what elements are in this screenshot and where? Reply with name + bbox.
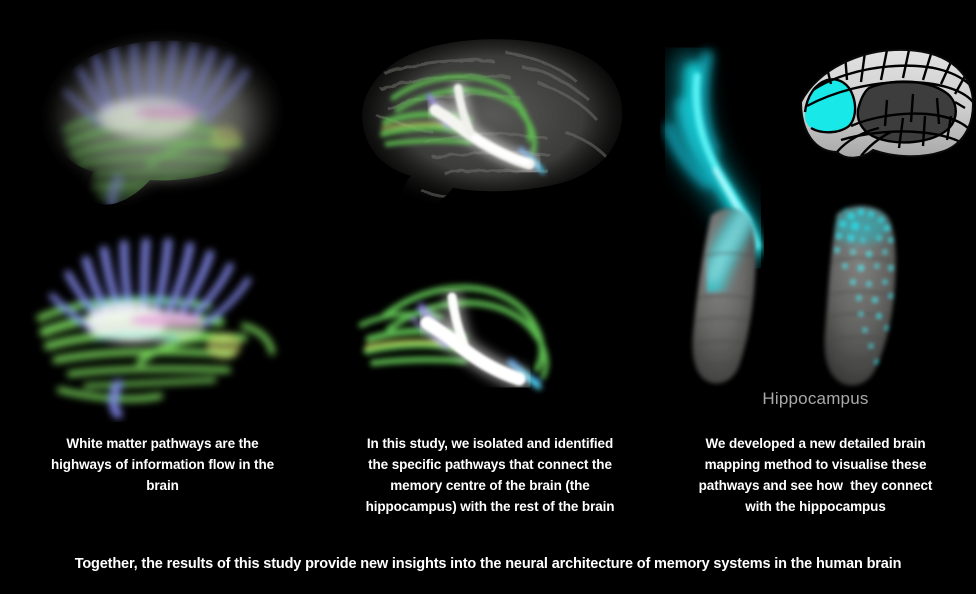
figure-root: White matter pathways are the highways o… [0,0,976,594]
hippocampus-surface-pathway [691,206,756,384]
caption-line: highways of information flow in the [0,454,325,475]
caption-line: pathways and see how they connect [655,475,976,496]
caption-column-3: We developed a new detailed brain mappin… [655,433,976,517]
caption-line: with the hippocampus [655,496,976,517]
hippocampus-surface-endpoints [823,204,896,386]
callosum-streak [134,107,202,120]
column-white-matter: White matter pathways are the highways o… [0,0,325,530]
column-hippocampal-mapping: We developed a new detailed brain mappin… [655,0,976,530]
footer-caption: Together, the results of this study prov… [0,556,976,572]
panel-isolated-pathway-bare [325,245,655,420]
callosum-streak-bare [130,313,202,327]
panel-isolated-pathway-with-surface [325,22,655,222]
caption-line: memory centre of the brain (the [325,475,655,496]
column-isolated-pathways: In this study, we isolated and identifie… [325,0,655,530]
panel-hippocampal-mapping-render [655,0,976,420]
caption-line: the specific pathways that connect the [325,454,655,475]
caption-column-2: In this study, we isolated and identifie… [325,433,655,517]
caption-line: hippocampus) with the rest of the brain [325,496,655,517]
caption-line: White matter pathways are the [0,433,325,454]
cortical-parcellation-inset [801,50,973,158]
hippocampus-label: Hippocampus [655,389,976,409]
caption-line: mapping method to visualise these [655,454,976,475]
caption-line: brain [0,475,325,496]
panel-whole-brain-tractography-with-surface [0,14,325,219]
caption-line: In this study, we isolated and identifie… [325,433,655,454]
panel-whole-brain-tractography-bare [0,222,325,422]
caption-line: We developed a new detailed brain [655,433,976,454]
caption-column-1: White matter pathways are the highways o… [0,433,325,496]
